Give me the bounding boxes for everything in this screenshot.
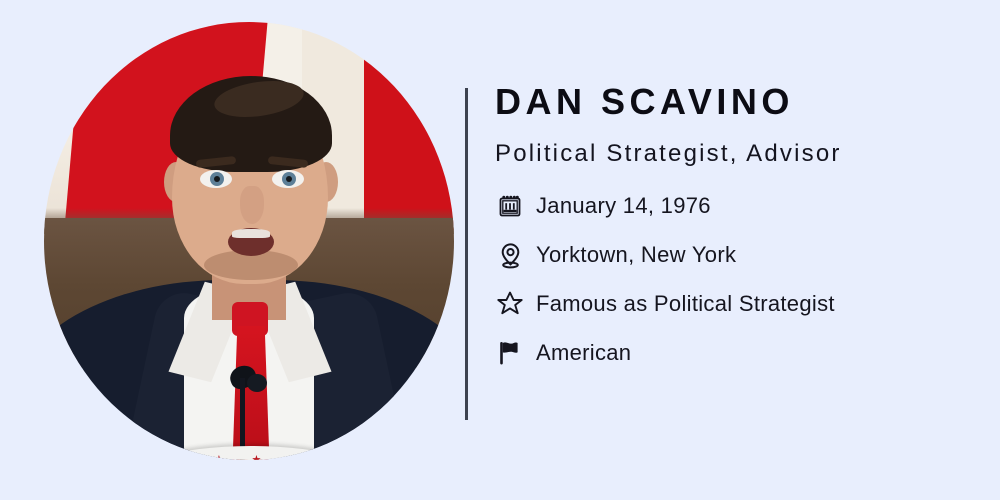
pupil-left <box>214 176 220 182</box>
detail-row-famous-as: Famous as Political Strategist <box>495 286 975 322</box>
detail-birthdate: January 14, 1976 <box>536 195 711 217</box>
page-title: DAN SCAVINO <box>495 84 975 120</box>
podium-star-icon: ★ <box>214 455 224 461</box>
necktie <box>232 326 270 460</box>
podium-stripe <box>144 458 208 460</box>
location-pin-icon <box>495 240 525 270</box>
podium-star-icon: ★ <box>289 455 299 461</box>
flag-icon <box>495 338 525 368</box>
star-outline-icon <box>495 289 525 319</box>
podium-star-icon: ★ <box>364 455 374 461</box>
detail-row-nationality: American <box>495 335 975 371</box>
nose <box>240 186 264 224</box>
microphone-head-2 <box>247 374 267 392</box>
detail-row-birthplace: Yorktown, New York <box>495 237 975 273</box>
calendar-icon <box>495 191 525 221</box>
pupil-right <box>286 176 292 182</box>
detail-famous-as: Famous as Political Strategist <box>536 293 835 315</box>
profile-photo: ★ ★ ★ ★ ★ <box>44 22 454 460</box>
podium-star-icon: ★ <box>252 455 262 461</box>
profile-info-panel: DAN SCAVINO Political Strategist, Adviso… <box>495 84 975 384</box>
profile-card: ★ ★ ★ ★ ★ DAN SCAVINO Political Strategi… <box>0 0 1000 500</box>
detail-nationality: American <box>536 342 631 364</box>
podium-star-icon: ★ <box>327 455 337 461</box>
vertical-divider <box>465 88 468 420</box>
detail-row-birthdate: January 14, 1976 <box>495 188 975 224</box>
flag-red-stripe-right <box>364 30 454 230</box>
detail-birthplace: Yorktown, New York <box>536 244 736 266</box>
podium-stars: ★ ★ ★ ★ ★ <box>214 452 374 460</box>
profile-role: Political Strategist, Advisor <box>495 142 975 166</box>
teeth <box>232 229 270 238</box>
